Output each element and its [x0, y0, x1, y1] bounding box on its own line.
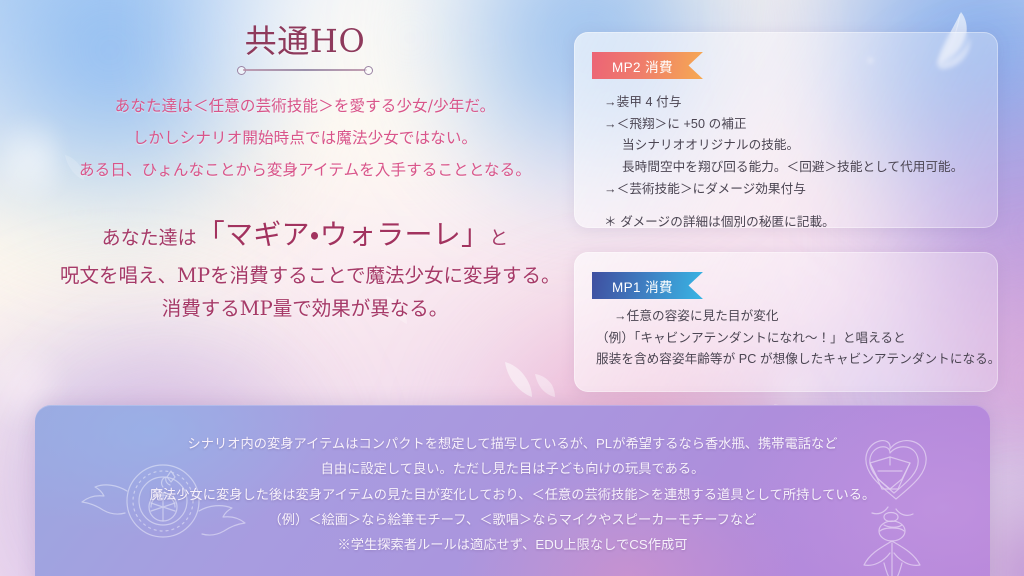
scenario-handout-slide: 共通HO あなた達は＜任意の芸術技能＞を愛する少女/少年だ。 しかしシナリオ開始… [0, 0, 1024, 576]
mp2-line: 当シナリオオリジナルの技能。 [604, 135, 982, 157]
spell-line-2: 呪文を唱え、MPを消費することで魔法少女に変身する。 [60, 260, 550, 292]
spell-line-1-prefix: あなた達は [102, 227, 197, 249]
mp1-ribbon-label: MP1 消費 [612, 276, 673, 296]
spell-name: 「マギア・ウォラーレ」 [197, 218, 490, 251]
mp2-footnote: ＊ ダメージの詳細は個別の秘匿に記載。 [604, 212, 982, 234]
intro-line: しかしシナリオ開始時点では魔法少女ではない。 [60, 123, 550, 155]
bottom-note-line: シナリオ内の変身アイテムはコンパクトを想定して描写しているが、PLが希望するなら… [35, 431, 990, 456]
bottom-note-line: （例）＜絵画＞なら絵筆モチーフ、＜歌唱＞ならマイクやスピーカーモチーフなど [35, 507, 990, 532]
feather-center-icon [495, 352, 561, 410]
mp1-line: 服装を含め容姿年齢等が PC が想像したキャビンアテンダントになる。 [596, 349, 982, 371]
mp2-line: 長時間空中を翔び回る能力。＜回避＞技能として代用可能。 [604, 157, 982, 179]
mp1-card-body: →任意の容姿に見た目が変化 （例）「キャビンアテンダントになれ〜！」と唱えると … [596, 306, 982, 371]
mp2-ribbon-label: MP2 消費 [612, 56, 673, 76]
bottom-note-line: 自由に設定して良い。ただし見た目は子ども向けの玩具である。 [35, 456, 990, 481]
spell-line-1: あなた達は「マギア・ウォラーレ」と [60, 212, 550, 257]
mp2-card-body: →装甲 4 付与 →＜飛翔＞に +50 の補正 当シナリオオリジナルの技能。 長… [604, 92, 982, 234]
bottom-note-text: シナリオ内の変身アイテムはコンパクトを想定して描写しているが、PLが希望するなら… [35, 405, 990, 558]
intro-line: あなた達は＜任意の芸術技能＞を愛する少女/少年だ。 [60, 91, 550, 123]
title-divider-ornament [237, 65, 373, 75]
divider-bar [243, 69, 367, 71]
page-title: 共通HO [60, 24, 550, 59]
mp2-line: →＜飛翔＞に +50 の補正 [604, 114, 982, 136]
spell-line-3: 消費するMP量で効果が異なる。 [60, 293, 550, 325]
mp2-line: →＜芸術技能＞にダメージ効果付与 [604, 179, 982, 201]
mp1-ribbon-badge: MP1 消費 [592, 272, 703, 299]
mp2-cost-card: MP2 消費 →装甲 4 付与 →＜飛翔＞に +50 の補正 当シナリオオリジナ… [574, 32, 998, 228]
mp2-line: →装甲 4 付与 [604, 92, 982, 114]
bokeh-dot [1, 100, 61, 220]
intro-paragraph: あなた達は＜任意の芸術技能＞を愛する少女/少年だ。 しかしシナリオ開始時点では魔… [60, 91, 550, 186]
divider-dot-right [364, 66, 373, 75]
mp1-line: →任意の容姿に見た目が変化 [596, 306, 982, 328]
mp1-cost-card: MP1 消費 →任意の容姿に見た目が変化 （例）「キャビンアテンダントになれ〜！… [574, 252, 998, 392]
bottom-note-line: 魔法少女に変身した後は変身アイテムの見た目が変化しており、＜任意の芸術技能＞を連… [35, 482, 990, 507]
bottom-note-panel: シナリオ内の変身アイテムはコンパクトを想定して描写しているが、PLが希望するなら… [35, 405, 990, 576]
mp2-ribbon-badge: MP2 消費 [592, 52, 703, 79]
bottom-note-line: ※学生探索者ルールは適応せず、EDU上限なしでCS作成可 [35, 532, 990, 557]
spell-paragraph: あなた達は「マギア・ウォラーレ」と 呪文を唱え、MPを消費することで魔法少女に変… [60, 212, 550, 325]
mp1-line: （例）「キャビンアテンダントになれ〜！」と唱えると [596, 328, 982, 350]
spell-line-1-suffix: と [489, 227, 508, 249]
intro-line: ある日、ひょんなことから変身アイテムを入手することとなる。 [60, 155, 550, 187]
main-text-column: 共通HO あなた達は＜任意の芸術技能＞を愛する少女/少年だ。 しかしシナリオ開始… [60, 24, 550, 325]
